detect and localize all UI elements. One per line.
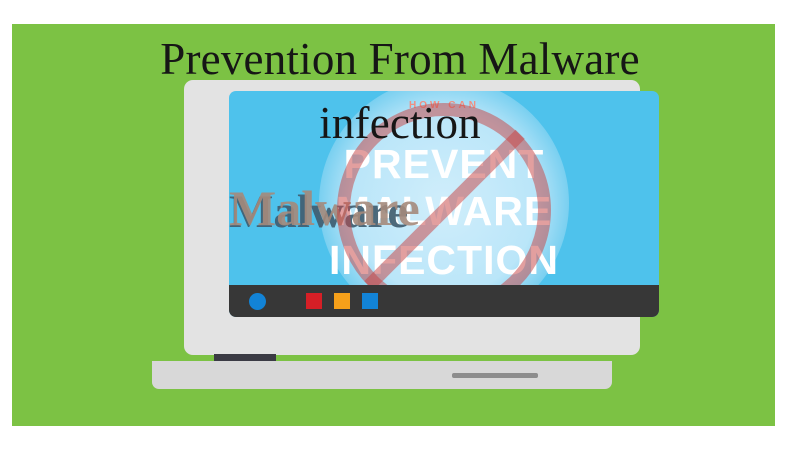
- laptop-screen: HOW CAN PREVENT MALWARE INFECTION FROM S…: [229, 91, 659, 317]
- dock-square-blue-icon[interactable]: [362, 293, 378, 309]
- poster-canvas: HOW CAN PREVENT MALWARE INFECTION FROM S…: [0, 0, 800, 450]
- screen-dock-bar: [229, 285, 659, 317]
- laptop-illustration: HOW CAN PREVENT MALWARE INFECTION FROM S…: [152, 80, 612, 390]
- laptop-trackpad: [452, 373, 538, 378]
- dock-square-red-icon[interactable]: [306, 293, 322, 309]
- laptop-lid: HOW CAN PREVENT MALWARE INFECTION FROM S…: [184, 80, 640, 355]
- dock-square-orange-icon[interactable]: [334, 293, 350, 309]
- dock-circle-blue-icon[interactable]: [249, 293, 266, 310]
- laptop-base: [152, 361, 612, 389]
